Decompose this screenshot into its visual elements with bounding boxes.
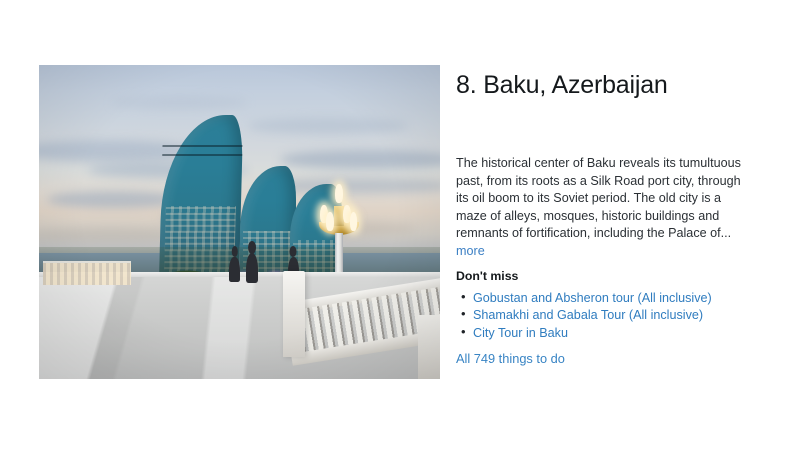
tour-link[interactable]: Gobustan and Absheron tour (All inclusiv…: [473, 291, 712, 305]
all-things-to-do-link[interactable]: All 749 things to do: [456, 351, 565, 366]
tour-link[interactable]: Shamakhi and Gabala Tour (All inclusive): [473, 308, 703, 322]
person-silhouette: [246, 253, 259, 283]
list-item: City Tour in Baku: [473, 325, 756, 342]
page-root: 8. Baku, Azerbaijan The historical cente…: [0, 0, 800, 450]
destination-photo[interactable]: [39, 65, 440, 379]
cloud: [280, 150, 440, 169]
tower-band: [163, 154, 243, 156]
description-paragraph: The historical center of Baku reveals it…: [456, 100, 744, 261]
photo-scene: [39, 65, 440, 379]
listing-content: 8. Baku, Azerbaijan The historical cente…: [456, 70, 756, 368]
list-item: Shamakhi and Gabala Tour (All inclusive): [473, 307, 756, 324]
person-silhouette: [229, 257, 239, 282]
list-item: Gobustan and Absheron tour (All inclusiv…: [473, 290, 756, 307]
right-balustrade: [280, 241, 440, 379]
balustrade-post: [418, 315, 440, 379]
dont-miss-heading: Don't miss: [456, 269, 756, 283]
lamp-hub: [334, 206, 344, 226]
cloud: [248, 118, 408, 134]
tour-link[interactable]: City Tour in Baku: [473, 326, 568, 340]
left-balustrade: [43, 263, 131, 285]
page-title: 8. Baku, Azerbaijan: [456, 70, 756, 100]
balustrade-post: [283, 271, 305, 357]
cloud: [111, 96, 247, 109]
description-text: The historical center of Baku reveals it…: [456, 156, 741, 240]
lamp-bulb: [326, 212, 334, 231]
lamp-bulb: [335, 184, 343, 203]
dont-miss-list: Gobustan and Absheron tour (All inclusiv…: [456, 290, 756, 342]
tower-band: [163, 145, 243, 147]
more-link[interactable]: more: [456, 244, 485, 258]
lamp-bulb: [350, 212, 358, 231]
